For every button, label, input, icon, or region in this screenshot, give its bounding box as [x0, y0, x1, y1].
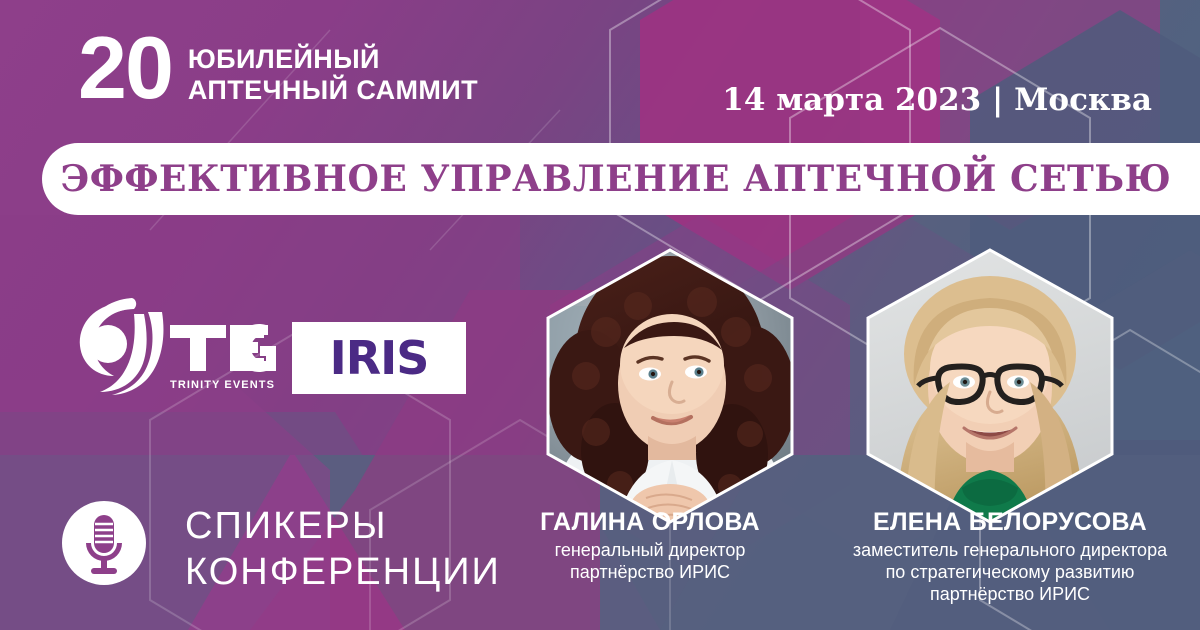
edition-label-line2: АПТЕЧНЫЙ САММИТ [188, 75, 478, 106]
teg-logo: TRINITY EVENTS GROUP [62, 292, 277, 397]
microphone-icon [62, 501, 146, 585]
speaker-name-1: ГАЛИНА ОРЛОВА [485, 508, 815, 537]
speaker-role-2-line2: по стратегическому развитию [815, 561, 1200, 583]
edition-number-block: 20 ЮБИЛЕЙНЫЙ АПТЕЧНЫЙ САММИТ [78, 28, 478, 108]
speaker-caption-2: ЕЛЕНА БЕЛОРУСОВА заместитель генеральног… [815, 508, 1200, 605]
edition-label-line1: ЮБИЛЕЙНЫЙ [188, 44, 478, 75]
speakers-label-line2: КОНФЕРЕНЦИИ [185, 549, 501, 595]
speaker-role-2-line3: партнёрство ИРИС [815, 583, 1200, 605]
event-promo-banner: 20 ЮБИЛЕЙНЫЙ АПТЕЧНЫЙ САММИТ 14 марта 20… [0, 0, 1200, 630]
speaker-role-2-line1: заместитель генерального директора [815, 539, 1200, 561]
speaker-role-1: генеральный директор партнёрство ИРИС [485, 539, 815, 583]
speaker-photo-1 [520, 236, 820, 536]
speaker-role-2: заместитель генерального директора по ст… [815, 539, 1200, 605]
speaker-caption-1: ГАЛИНА ОРЛОВА генеральный директор партн… [485, 508, 815, 583]
speaker-name-2: ЕЛЕНА БЕЛОРУСОВА [815, 508, 1200, 537]
speaker-role-1-line2: партнёрство ИРИС [485, 561, 815, 583]
date-location: 14 марта 2023 | Москва [722, 82, 1152, 118]
speaker-photo-2 [840, 236, 1140, 536]
speaker-role-1-line1: генеральный директор [485, 539, 815, 561]
event-title: ЭФФЕКТИВНОЕ УПРАВЛЕНИЕ АПТЕЧНОЙ СЕТЬЮ [61, 158, 1172, 200]
teg-swoosh-mark [80, 298, 164, 395]
edition-number: 20 [78, 28, 172, 108]
banner-header: 20 ЮБИЛЕЙНЫЙ АПТЕЧНЫЙ САММИТ 14 марта 20… [0, 0, 1200, 143]
event-title-bar: ЭФФЕКТИВНОЕ УПРАВЛЕНИЕ АПТЕЧНОЙ СЕТЬЮ [42, 143, 1200, 215]
iris-wordmark: IRIS [330, 331, 429, 385]
teg-wordmark [170, 324, 276, 372]
edition-label: ЮБИЛЕЙНЫЙ АПТЕЧНЫЙ САММИТ [188, 44, 478, 106]
speakers-section-label: СПИКЕРЫ КОНФЕРЕНЦИИ [185, 503, 501, 595]
teg-tagline: TRINITY EVENTS GROUP [170, 379, 277, 391]
iris-logo: IRIS [292, 322, 466, 394]
speakers-label-line1: СПИКЕРЫ [185, 503, 501, 549]
